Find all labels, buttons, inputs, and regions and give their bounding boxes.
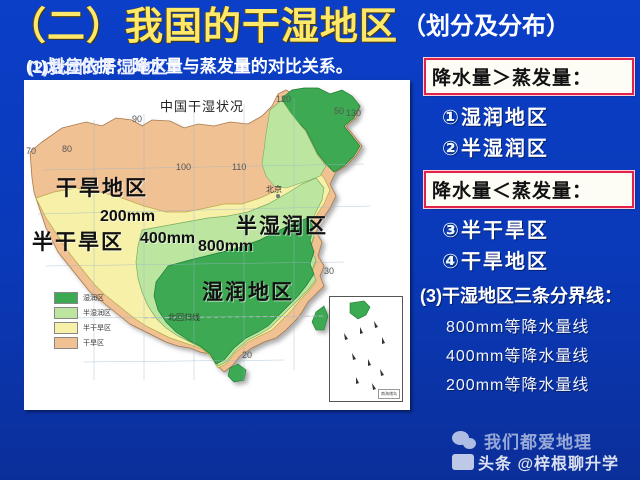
legend-item-semi-humid: 半湿润区 <box>54 307 111 319</box>
map-label-200mm: 200mm <box>100 208 155 226</box>
legend-item-semi-arid: 半干旱区 <box>54 322 111 334</box>
legend-swatch-humid <box>54 292 78 304</box>
list-item-semi-humid-number: ② <box>442 138 461 160</box>
map-inset-south-china-sea: 南海诸岛 <box>329 296 403 402</box>
subheading-line-regions: (2)我国的干湿地区 <box>28 56 168 80</box>
map-gridnum-120: 120 <box>276 94 291 104</box>
legend-label-semi-humid: 半湿润区 <box>83 308 111 318</box>
list-item-semi-arid: ③半干旱区 <box>442 214 634 243</box>
map-gridnum-50: 50 <box>334 106 344 116</box>
map-gridnum-110: 110 <box>232 162 246 172</box>
watermark-toutiao-text: 头条 @梓根聊升学 <box>478 450 619 474</box>
map-tropic-of-cancer-label: 北回归线 <box>168 312 200 323</box>
inset-caption: 南海诸岛 <box>378 389 400 399</box>
inset-vector <box>330 297 402 401</box>
map-gridnum-30: 30 <box>324 266 334 276</box>
legend-item-humid: 湿润区 <box>54 292 111 304</box>
legend-swatch-arid <box>54 337 78 349</box>
map-label-800mm: 800mm <box>198 238 253 256</box>
legend-label-humid: 湿润区 <box>83 293 104 303</box>
watermark-toutiao: 头条 @梓根聊升学 <box>452 450 619 474</box>
callout-precip-greater-evap-text: 降水量＞蒸发量： <box>432 68 592 89</box>
boundary-line-800mm: 800mm等降水量线 <box>446 313 634 337</box>
map-gridnum-90: 90 <box>132 114 142 124</box>
legend-label-semi-arid: 半干旱区 <box>83 323 111 333</box>
wechat-icon <box>452 431 478 451</box>
map-label-semi-humid: 半湿润区 <box>236 210 328 240</box>
boundary-line-200mm: 200mm等降水量线 <box>446 371 634 395</box>
map-legend: 湿润区 半湿润区 半干旱区 干旱区 <box>54 292 111 352</box>
boundaries-heading: (3)干湿地区三条分界线： <box>420 282 634 308</box>
callout-precip-greater-evap: 降水量＞蒸发量： <box>424 58 634 95</box>
list-item-semi-arid-label: 半干旱区 <box>461 220 549 242</box>
map-title: 中国干湿状况 <box>160 96 244 115</box>
page-title: （二）我国的干湿地区 （划分及分布） <box>8 4 632 50</box>
toutiao-icon <box>452 454 474 470</box>
map-label-arid: 干旱地区 <box>56 172 148 202</box>
title-sub-text: （划分及分布） <box>402 15 570 39</box>
title-main-text: （二）我国的干湿地区 <box>8 8 398 46</box>
map-label-humid: 湿润地区 <box>202 276 294 306</box>
china-humidity-map: 中国干湿状况 干旱地区 半干旱区 半湿润区 湿润地区 200mm 400mm 8… <box>24 80 410 410</box>
list-item-semi-arid-number: ③ <box>442 220 461 242</box>
legend-label-arid: 干旱区 <box>83 338 104 348</box>
map-label-semi-arid: 半干旱区 <box>32 226 124 256</box>
callout-precip-less-evap-text: 降水量＜蒸发量： <box>432 181 592 202</box>
boundary-line-400mm: 400mm等降水量线 <box>446 342 634 366</box>
map-gridnum-130: 130 <box>346 108 361 118</box>
slide-root: （二）我国的干湿地区 （划分及分布） (1)划分依据：降水量与蒸发量的对比关系。… <box>0 0 640 480</box>
list-item-humid-label: 湿润地区 <box>461 107 549 129</box>
list-item-arid: ④干旱地区 <box>442 245 634 274</box>
map-label-400mm: 400mm <box>140 230 195 248</box>
map-gridnum-80: 80 <box>62 144 72 154</box>
list-item-humid: ①湿润地区 <box>442 101 634 130</box>
list-item-humid-number: ① <box>442 107 461 129</box>
map-gridnum-20: 20 <box>242 350 252 360</box>
callout-precip-less-evap: 降水量＜蒸发量： <box>424 171 634 208</box>
list-item-arid-number: ④ <box>442 251 461 273</box>
legend-item-arid: 干旱区 <box>54 337 111 349</box>
list-item-semi-humid-label: 半湿润区 <box>461 138 549 160</box>
legend-swatch-semi-humid <box>54 307 78 319</box>
list-item-semi-humid: ②半湿润区 <box>442 132 634 161</box>
list-item-arid-label: 干旱地区 <box>461 251 549 273</box>
map-gridnum-70: 70 <box>26 146 36 156</box>
map-gridnum-100: 100 <box>176 162 191 172</box>
right-column: 降水量＞蒸发量： ①湿润地区 ②半湿润区 降水量＜蒸发量： ③半干旱区 ④干旱地… <box>420 58 634 400</box>
subheading-overlap-group: (1)划分依据：降水量与蒸发量的对比关系。 (2)我国的干湿地区 <box>26 55 416 81</box>
legend-swatch-semi-arid <box>54 322 78 334</box>
map-city-beijing: 北京 <box>266 184 282 195</box>
